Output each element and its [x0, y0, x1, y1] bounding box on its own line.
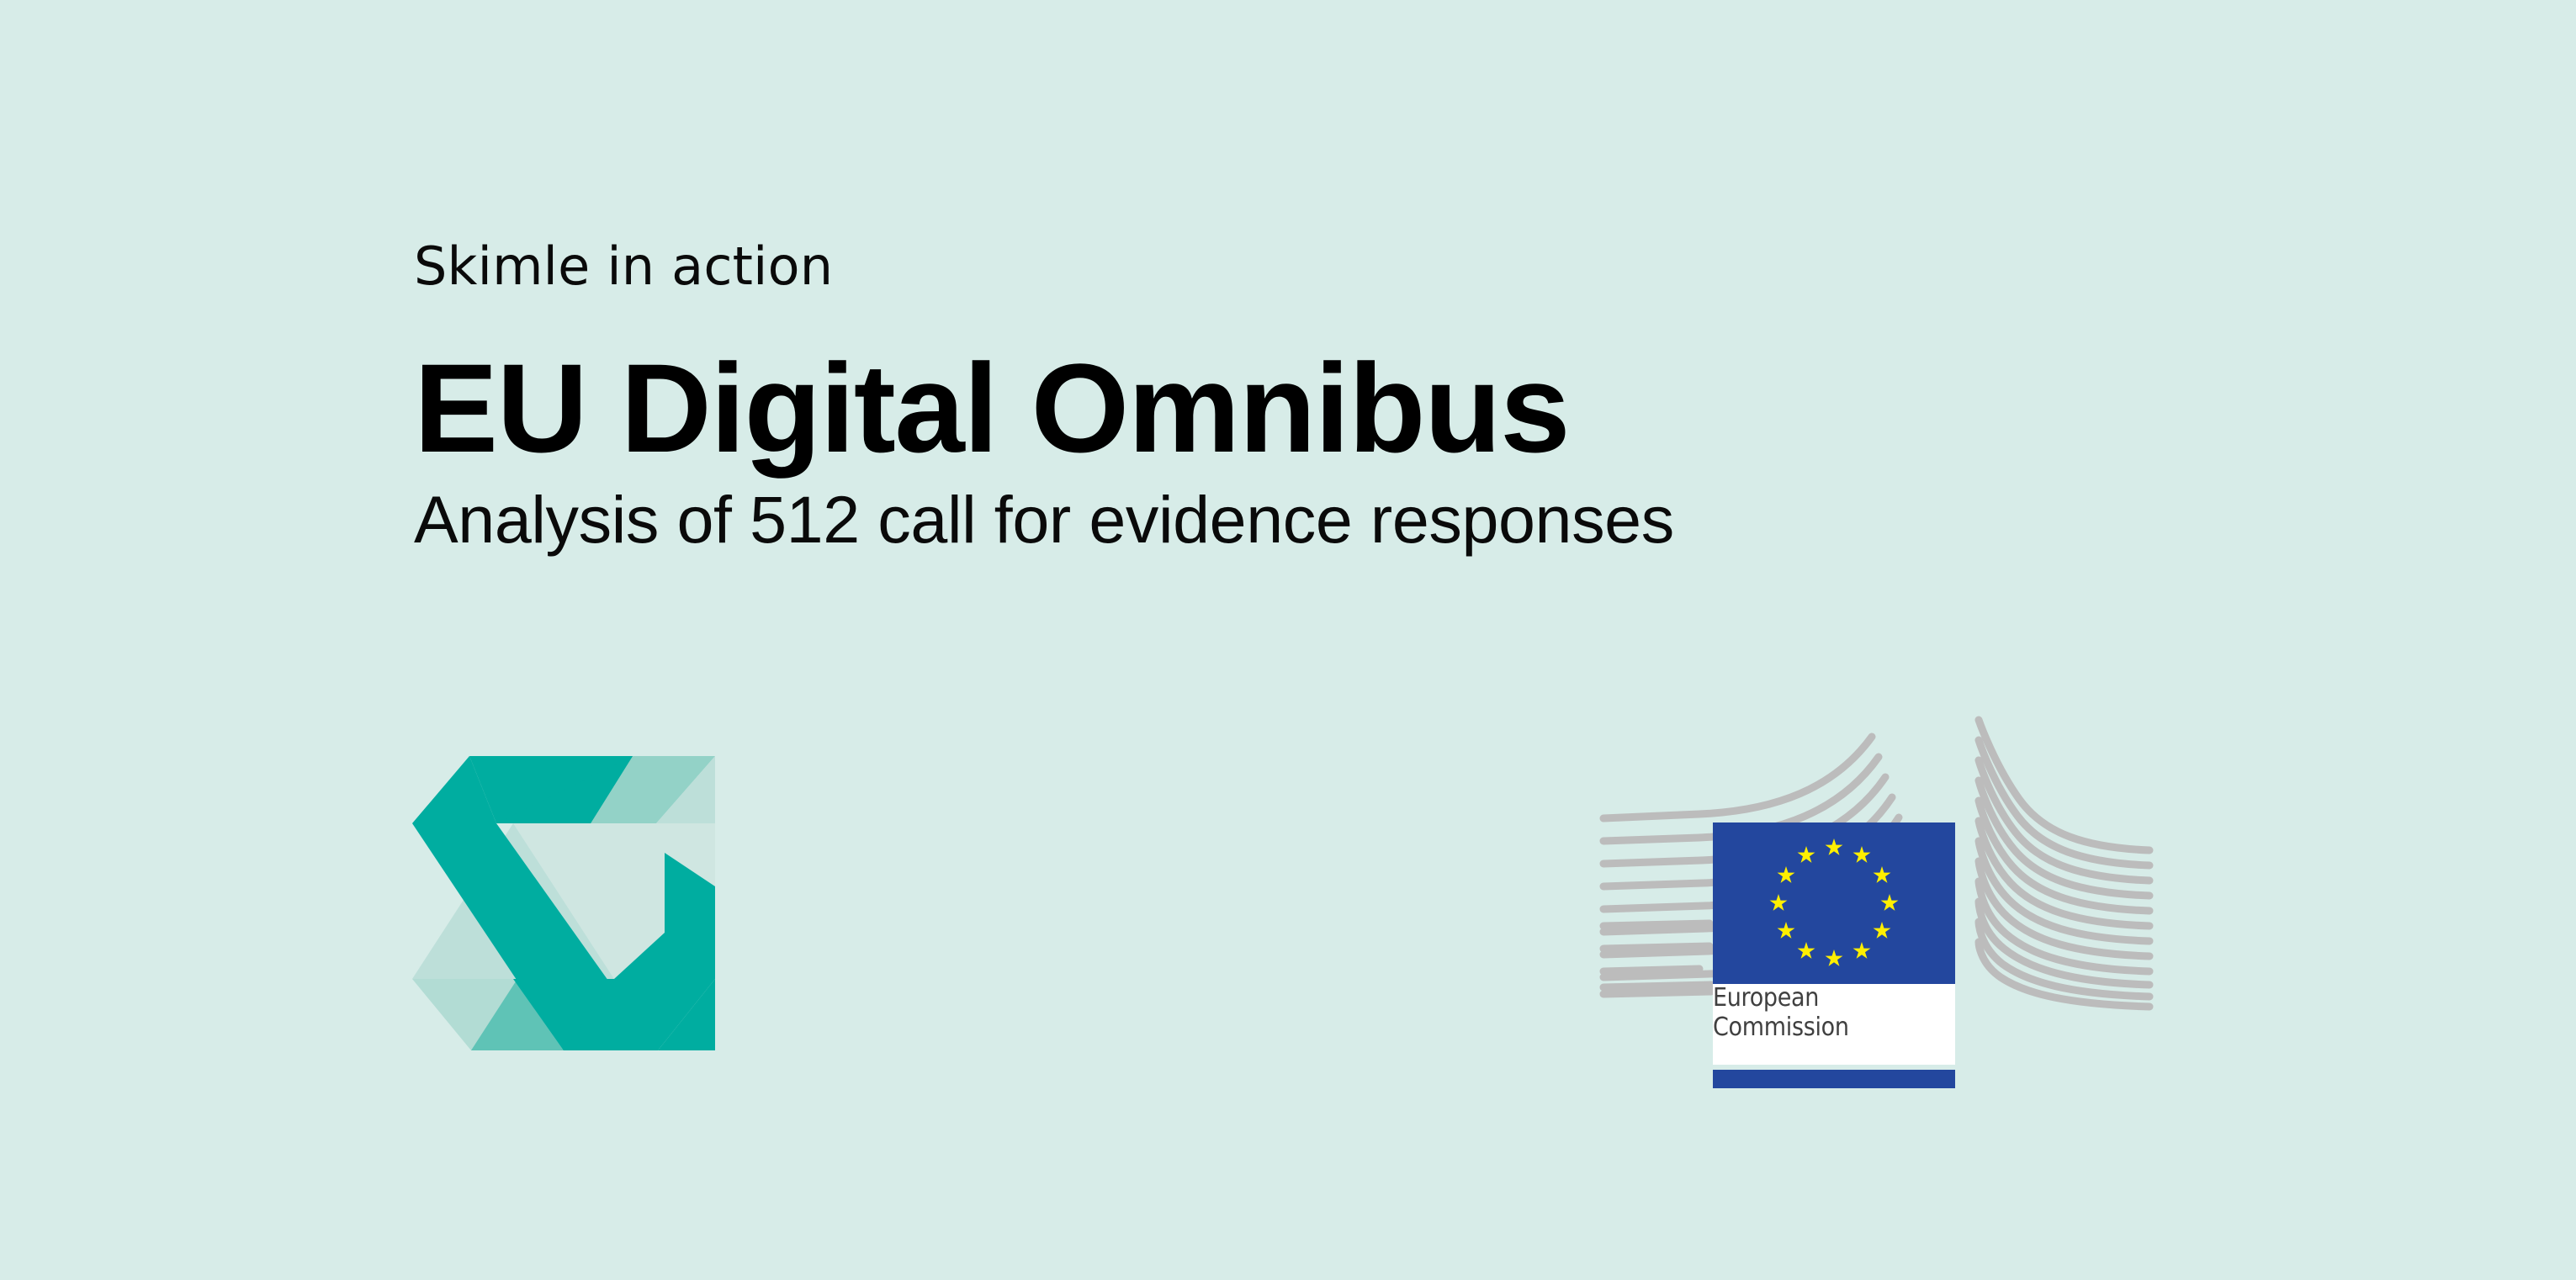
eu-organisation-name-line2: Commission: [1713, 1013, 1839, 1043]
eu-bottom-rule: [1713, 1070, 1955, 1088]
skimle-logo-mark: [412, 727, 715, 1080]
page-title: EU Digital Omnibus: [414, 345, 2265, 471]
european-commission-logo-mark: [1598, 713, 2187, 1100]
page-subtitle: Analysis of 512 call for evidence respon…: [414, 486, 2265, 553]
eu-organisation-name-line1: European: [1713, 984, 1839, 1013]
berlaymont-right-wing: [1979, 720, 2149, 1007]
skimle-logo: [412, 727, 715, 1080]
title-text-block: Skimle in action EU Digital Omnibus Anal…: [414, 241, 2265, 553]
eu-organisation-name: European Commission: [1713, 984, 1839, 1043]
title-card: Skimle in action EU Digital Omnibus Anal…: [0, 0, 2576, 1280]
eyebrow-label: Skimle in action: [414, 241, 2265, 293]
european-commission-logo: European Commission: [1598, 713, 2187, 1100]
